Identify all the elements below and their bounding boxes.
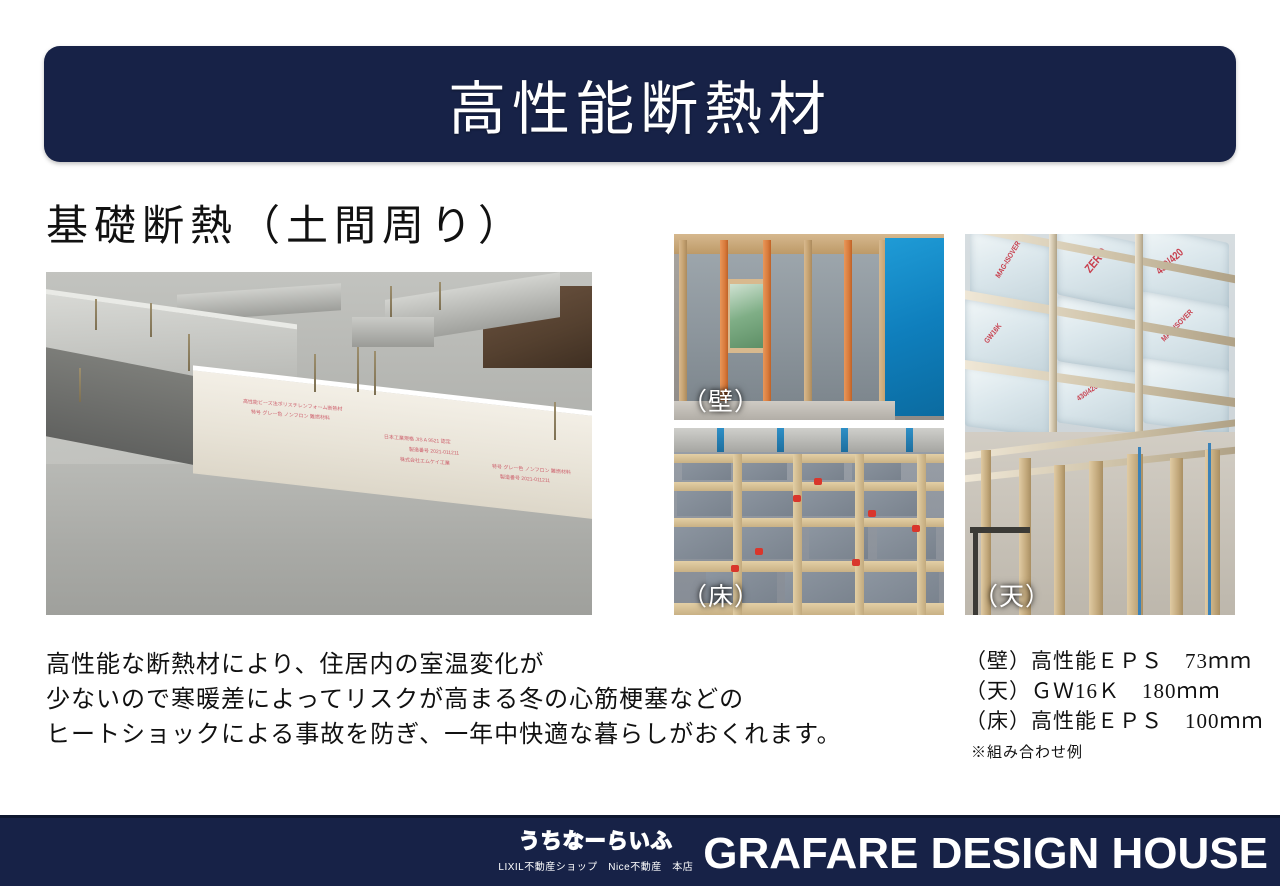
batt-label: MAG-ISOVER	[995, 240, 1022, 280]
rebar-pin	[554, 402, 556, 440]
floor-joist	[674, 518, 944, 527]
floor-insulation-pad	[739, 488, 793, 516]
floor-joist	[917, 454, 926, 615]
eps-print-line-2b: 製造番号 2021-011211	[500, 474, 550, 484]
slide-root: 高性能断熱材 基礎断熱（土間周り） 高性能ビーズ法ポリスチレンフォーム断熱材 特…	[0, 0, 1280, 886]
ceiling-blue-strap	[1208, 443, 1211, 615]
floor-marker	[868, 510, 876, 517]
ceiling-post	[1089, 461, 1103, 615]
wall-insulation-panel	[769, 245, 804, 405]
floor-joist	[674, 482, 944, 491]
rebar-pin	[374, 351, 376, 396]
spec-item-ceiling: （天）ＧＷ16Ｋ 180ｍｍ	[965, 676, 1264, 706]
photo-caption-ceiling: （天）	[973, 577, 1051, 613]
title-banner: 高性能断熱材	[44, 46, 1236, 162]
body-line-3: ヒートショックによる事故を防ぎ、一年中快適な暮らしがおくれます。	[46, 718, 842, 753]
spec-item-floor: （床）高性能ＥＰＳ 100ｍｍ	[965, 706, 1264, 736]
footer-bar: うちなーらいふ LIXIL不動産ショップ Nice不動産 本店 GRAFARE …	[0, 815, 1280, 886]
ceiling-shadow	[970, 527, 1029, 533]
floor-joist	[674, 561, 944, 572]
floor-marker	[793, 495, 801, 502]
ceiling-joist	[1049, 234, 1057, 432]
rebar-pin	[95, 299, 97, 330]
ceiling-post	[1054, 465, 1065, 615]
floor-insulation-pad	[877, 525, 936, 559]
body-line-2: 少ないので寒暖差によってリスクが高まる冬の心筋梗塞などの	[46, 683, 842, 718]
rebar-pin	[188, 334, 190, 372]
section-heading: 基礎断熱（土間周り）	[46, 192, 526, 253]
ceiling-blue-strap	[1138, 447, 1141, 615]
rebar-pin	[439, 282, 441, 309]
footer-content: うちなーらいふ LIXIL不動産ショップ Nice不動産 本店 GRAFARE …	[498, 825, 1280, 879]
logo-kana-text: うちなーらいふ	[519, 825, 673, 855]
body-paragraph: 高性能な断熱材により、住居内の室温変化が 少ないので寒暖差によってリスクが高まる…	[46, 648, 842, 753]
wall-insulation-panel	[850, 245, 882, 405]
floor-support-pipe	[841, 428, 848, 452]
body-line-1: 高性能な断熱材により、住居内の室温変化が	[46, 648, 842, 683]
floor-insulation-pad	[801, 488, 855, 516]
floor-marker	[852, 559, 860, 566]
photo-foundation: 高性能ビーズ法ポリスチレンフォーム断熱材 特号 グレー色 ノンフロン 難燃材料 …	[46, 272, 592, 615]
floor-marker	[912, 525, 920, 532]
photo-floor-insulation: （床）	[674, 428, 944, 615]
brand-name: GRAFARE DESIGN HOUSE	[703, 831, 1268, 879]
floor-marker	[755, 548, 763, 555]
glasswool-batt: 430/420	[1057, 362, 1138, 434]
floor-insulation-pad	[677, 488, 731, 516]
floor-support-pipe	[777, 428, 784, 452]
photo-caption-wall: （壁）	[682, 382, 760, 418]
foundation-beam-c	[352, 317, 434, 348]
photo-wall-insulation: （壁）	[674, 234, 944, 420]
floor-insulation-pad	[674, 525, 733, 559]
logo-subtitle-text: LIXIL不動産ショップ Nice不動産 本店	[498, 858, 693, 873]
ceiling-post	[1170, 458, 1183, 615]
floor-marker	[731, 565, 739, 572]
photo-ceiling-insulation: MAG-ISOVER ZERO 430/420 GW16K MAG-ISOVER…	[965, 234, 1235, 615]
page-title: 高性能断熱材	[448, 62, 832, 146]
floor-joist	[793, 454, 802, 615]
wall-window	[725, 279, 768, 353]
floor-marker	[814, 478, 822, 485]
floor-support-pipe	[717, 428, 724, 452]
spec-list: （壁）高性能ＥＰＳ 73ｍｍ （天）ＧＷ16Ｋ 180ｍｍ （床）高性能ＥＰＳ …	[965, 646, 1264, 768]
rebar-pin	[79, 368, 81, 402]
spec-item-wall: （壁）高性能ＥＰＳ 73ｍｍ	[965, 646, 1264, 676]
eps-print-line-5: 株式会社エムケイ工業	[401, 456, 451, 466]
rebar-pin	[314, 354, 316, 392]
eps-print-line-4: 製造番号 2021-011211	[409, 447, 459, 457]
rebar-pin	[390, 286, 392, 317]
spec-note: ※組み合わせ例	[965, 738, 1264, 768]
batt-code: GW16K	[983, 323, 1003, 346]
floor-joist	[674, 454, 944, 463]
wall-stud	[804, 240, 812, 411]
floor-insulation-pad	[863, 570, 939, 607]
rebar-pin	[150, 303, 152, 337]
floor-support-pipe	[906, 428, 913, 452]
rebar-pin	[357, 347, 359, 392]
floor-joist	[855, 454, 864, 615]
wall-insulation-panel	[809, 245, 844, 405]
floor-far-wall	[674, 428, 944, 452]
ceiling-joist	[1135, 234, 1143, 432]
uchina-life-logo: うちなーらいふ LIXIL不動産ショップ Nice不動産 本店	[498, 825, 693, 879]
wall-blue-tarp	[885, 238, 944, 417]
photo-caption-floor: （床）	[682, 577, 760, 613]
eps-print-line-3: 日本工業規格 JIS A 9521 認定	[384, 434, 451, 445]
eps-print-line-1b: 特号 グレー色 ノンフロン 難燃材料	[492, 463, 571, 475]
wall-stud	[844, 240, 852, 411]
wall-stud	[763, 240, 771, 411]
